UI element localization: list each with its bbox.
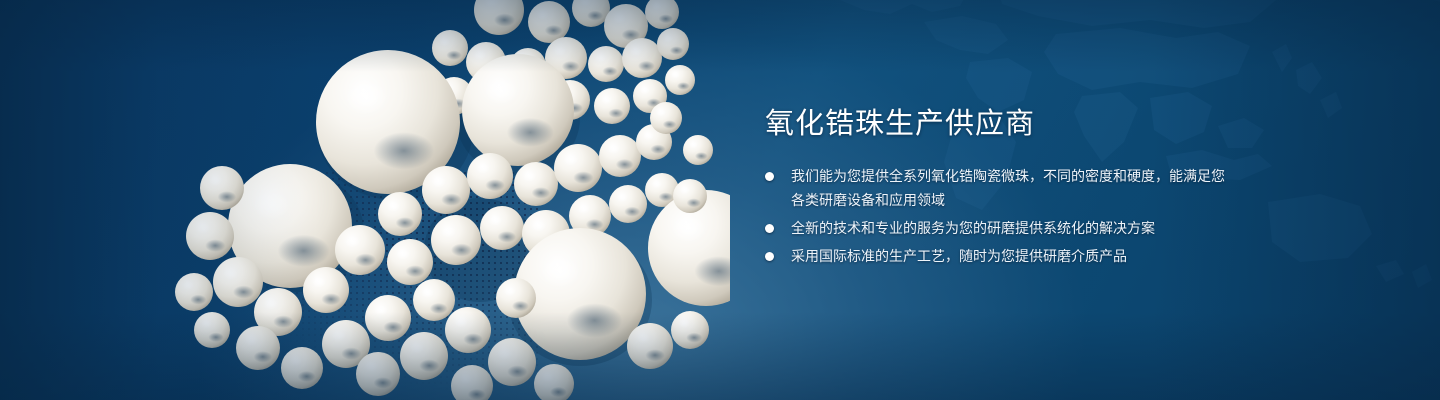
list-item: 采用国际标准的生产工艺，随时为您提供研磨介质产品 (765, 244, 1225, 268)
bullet-dot-icon (765, 172, 774, 181)
list-item-text: 我们能为您提供全系列氧化锆陶瓷微珠，不同的密度和硬度，能满足您各类研磨设备和应用… (791, 164, 1225, 212)
list-item-text: 采用国际标准的生产工艺，随时为您提供研磨介质产品 (791, 244, 1225, 268)
feature-list: 我们能为您提供全系列氧化锆陶瓷微珠，不同的密度和硬度，能满足您各类研磨设备和应用… (765, 164, 1225, 268)
list-item: 全新的技术和专业的服务为您的研磨提供系统化的解决方案 (765, 216, 1225, 240)
hero-banner: 氧化锆珠生产供应商 我们能为您提供全系列氧化锆陶瓷微珠，不同的密度和硬度，能满足… (0, 0, 1440, 400)
bullet-dot-icon (765, 224, 774, 233)
banner-copy: 氧化锆珠生产供应商 我们能为您提供全系列氧化锆陶瓷微珠，不同的密度和硬度，能满足… (765, 104, 1225, 272)
list-item: 我们能为您提供全系列氧化锆陶瓷微珠，不同的密度和硬度，能满足您各类研磨设备和应用… (765, 164, 1225, 212)
bullet-dot-icon (765, 252, 774, 261)
page-title: 氧化锆珠生产供应商 (765, 104, 1225, 144)
list-item-text: 全新的技术和专业的服务为您的研磨提供系统化的解决方案 (791, 216, 1225, 240)
